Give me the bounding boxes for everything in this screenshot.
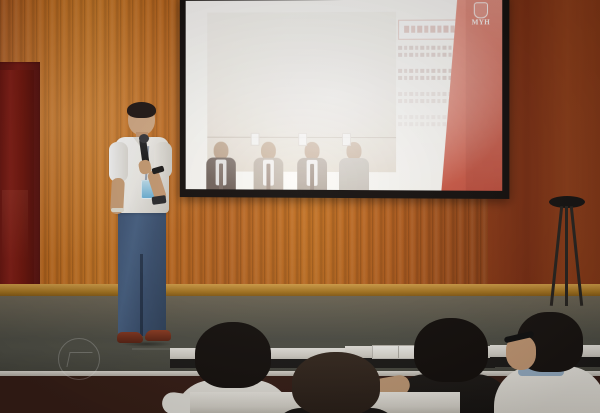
glass-on-table bbox=[342, 133, 351, 146]
tie bbox=[219, 164, 223, 191]
institution-crest-logo: MYH bbox=[466, 2, 496, 26]
stool-leg bbox=[570, 206, 583, 306]
group-photo-on-slide bbox=[207, 12, 396, 172]
attendee-right-with-glasses bbox=[500, 312, 600, 413]
logo-wordmark: MYH bbox=[466, 19, 496, 26]
stool-leg bbox=[565, 206, 568, 306]
head bbox=[292, 352, 380, 413]
dress bbox=[339, 158, 369, 191]
stool-leg bbox=[550, 206, 563, 306]
crest-icon bbox=[474, 2, 488, 18]
attendee-center-brown-hair bbox=[278, 352, 394, 413]
door-highlight bbox=[2, 190, 28, 260]
tall-stool bbox=[545, 196, 591, 316]
glass-on-table bbox=[251, 133, 260, 146]
dark-red-door bbox=[0, 70, 34, 296]
beaded-bracelet bbox=[111, 208, 124, 212]
projection-screen-frame: MYH bbox=[180, 0, 510, 199]
tie bbox=[266, 164, 270, 191]
red-brand-panel-inner bbox=[466, 0, 503, 191]
presenter-hair bbox=[127, 102, 156, 118]
head bbox=[414, 318, 488, 382]
tie bbox=[310, 164, 314, 191]
shirt-left-sleeve bbox=[109, 142, 128, 182]
glass-on-table bbox=[298, 133, 307, 146]
projection-screen-surface: MYH bbox=[186, 0, 503, 191]
microphone-head bbox=[139, 134, 149, 143]
photograph-scene: MYH bbox=[0, 0, 600, 413]
head bbox=[195, 322, 271, 388]
slide-text-line bbox=[398, 122, 452, 126]
